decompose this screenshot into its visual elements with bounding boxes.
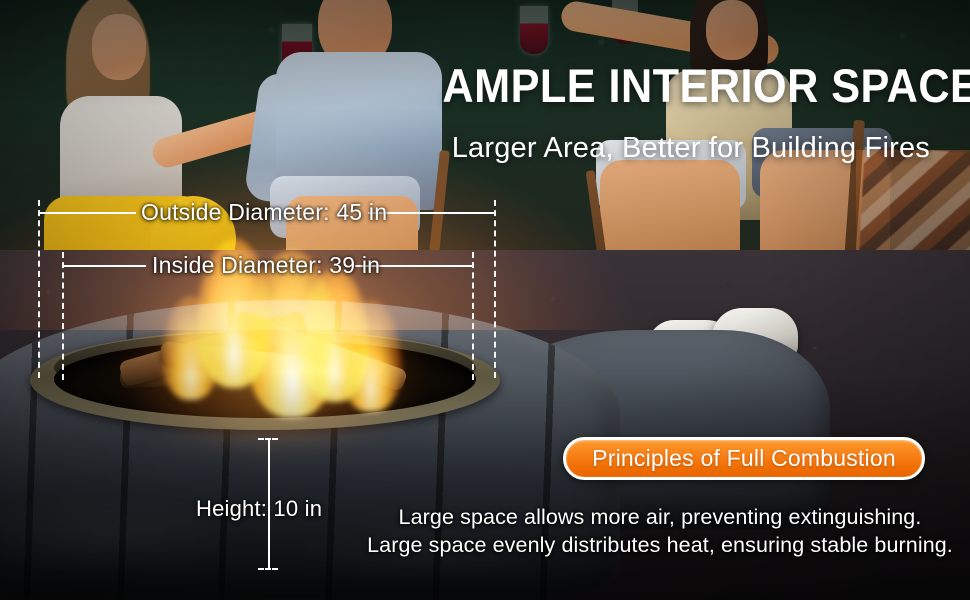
height-label: Height: 10 in	[196, 496, 322, 522]
product-feature-banner: AMPLE INTERIOR SPACE Larger Area, Better…	[0, 0, 970, 600]
benefit-line: Large space evenly distributes heat, ens…	[360, 532, 960, 560]
subtitle: Larger Area, Better for Building Fires	[330, 132, 930, 165]
principles-of-full-combustion-button[interactable]: Principles of Full Combustion	[563, 437, 925, 480]
height-tick-top	[258, 438, 278, 440]
inside-diameter-guide-left	[62, 252, 64, 380]
height-tick-bottom	[258, 568, 278, 570]
inside-diameter-guide-right	[472, 252, 474, 380]
inside-diameter-line-left	[62, 265, 146, 267]
inside-diameter-label: Inside Diameter: 39 in	[152, 252, 380, 279]
text-overlay: AMPLE INTERIOR SPACE Larger Area, Better…	[0, 0, 970, 600]
cta-label: Principles of Full Combustion	[592, 445, 896, 472]
outside-diameter-line-left	[38, 212, 136, 214]
outside-diameter-guide-left	[38, 200, 40, 378]
headline: AMPLE INTERIOR SPACE	[442, 62, 930, 109]
benefit-text-block: Large space allows more air, preventing …	[360, 504, 960, 559]
benefit-line: Large space allows more air, preventing …	[360, 504, 960, 532]
outside-diameter-label: Outside Diameter: 45 in	[141, 199, 387, 226]
outside-diameter-guide-right	[494, 200, 496, 378]
